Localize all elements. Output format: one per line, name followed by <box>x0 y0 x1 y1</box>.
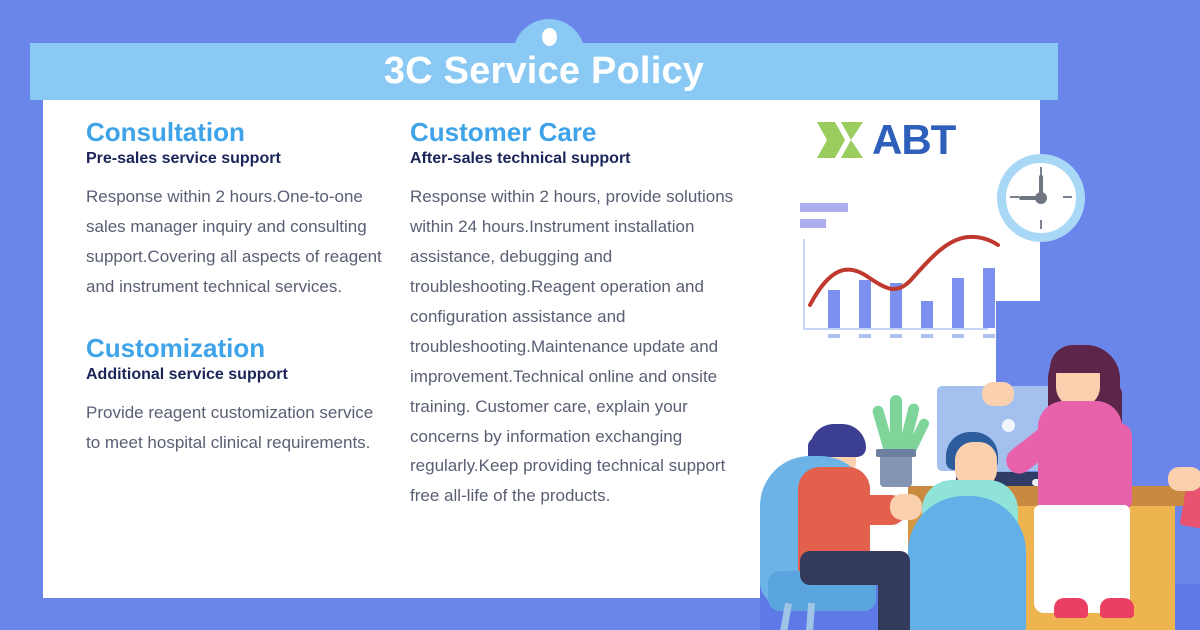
poster-canvas: 3C Service Policy Consultation Pre-sales… <box>0 0 1200 630</box>
wall-clock-icon <box>997 154 1085 242</box>
section-title-customization: Customization <box>86 334 386 363</box>
chart-x-tick <box>983 334 995 338</box>
section-subtitle-customer-care: After-sales technical support <box>410 149 755 168</box>
chart-x-tick <box>952 334 964 338</box>
woman-lowered-hand <box>1168 467 1200 491</box>
office-chair-right <box>908 496 1026 630</box>
woman-shoe <box>1100 598 1134 618</box>
chart-trend-line <box>800 223 1010 333</box>
chart-x-tick <box>828 334 840 338</box>
plant-pot <box>880 455 912 487</box>
section-customization: Customization Additional service support… <box>86 334 386 458</box>
clock-tick-6 <box>1040 220 1042 229</box>
section-body-customer-care: Response within 2 hours, provide solutio… <box>410 182 755 511</box>
chart-x-tick <box>890 334 902 338</box>
section-subtitle-consultation: Pre-sales service support <box>86 149 386 168</box>
section-title-customer-care: Customer Care <box>410 118 755 147</box>
monitor-logo-icon <box>1002 419 1015 432</box>
woman-skirt <box>1034 505 1130 613</box>
chart-x-tick <box>921 334 933 338</box>
man-front-hair <box>810 424 866 457</box>
man-front-hand <box>890 494 922 520</box>
page-title: 3C Service Policy <box>384 52 704 92</box>
clock-tick-9 <box>1010 196 1019 198</box>
left-column: Consultation Pre-sales service support R… <box>86 118 386 458</box>
section-title-consultation: Consultation <box>86 118 386 147</box>
woman-hair-front <box>1050 345 1108 373</box>
woman-raised-hand <box>982 382 1014 406</box>
section-subtitle-customization: Additional service support <box>86 365 386 384</box>
section-body-customization: Provide reagent customization service to… <box>86 398 386 458</box>
clock-center-pin <box>1035 192 1047 204</box>
clock-tick-3 <box>1063 196 1072 198</box>
bar-chart <box>800 203 1015 358</box>
plant-pot-rim <box>876 449 916 457</box>
abt-logo: ABT <box>815 119 955 161</box>
logo-text: ABT <box>872 119 955 161</box>
header-bar: 3C Service Policy <box>30 43 1058 100</box>
chart-legend-bar-1 <box>800 203 848 212</box>
illustration-area: ABT <box>760 43 1200 630</box>
man-front-shin <box>878 563 910 630</box>
chart-x-tick <box>859 334 871 338</box>
section-body-consultation: Response within 2 hours.One-to-one sales… <box>86 182 386 302</box>
section-consultation: Consultation Pre-sales service support R… <box>86 118 386 302</box>
header-tab-dot-icon <box>542 28 557 46</box>
woman-lowered-arm <box>1106 423 1132 513</box>
x-chevron-mark-icon <box>815 120 865 160</box>
woman-shoe <box>1054 598 1088 618</box>
middle-column: Customer Care After-sales technical supp… <box>410 118 755 511</box>
section-customer-care: Customer Care After-sales technical supp… <box>410 118 755 511</box>
